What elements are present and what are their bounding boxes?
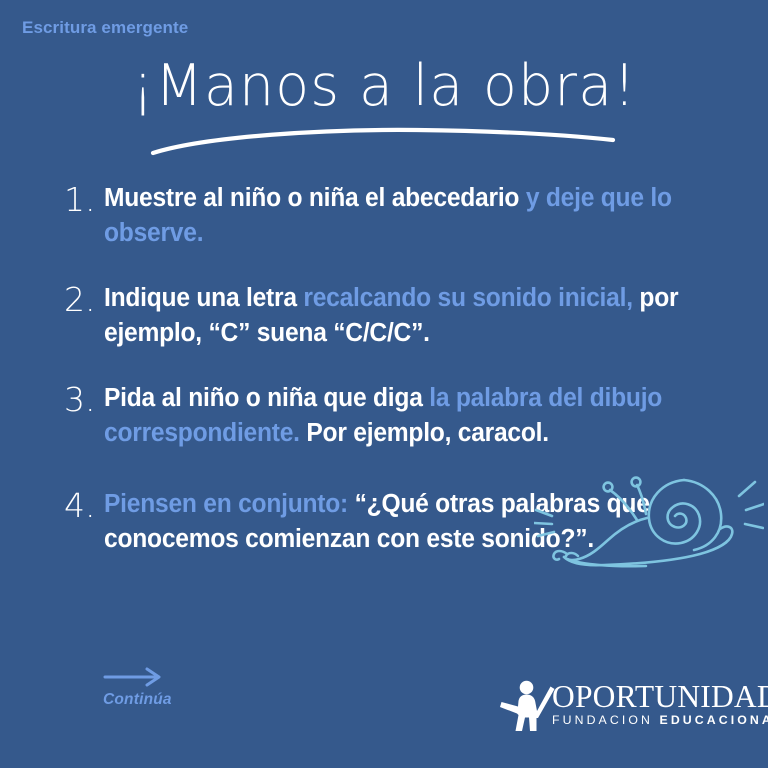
logo-subtitle-light: FUNDACION — [552, 713, 660, 727]
text-segment-white: Indique una letra — [104, 284, 303, 312]
text-segment-white: Muestre al niño o niña el abecedario — [104, 184, 526, 212]
list-item-number: 2. — [64, 281, 104, 317]
list-item: 3. Pida al niño o niña que diga la palab… — [64, 381, 724, 451]
logo-subtitle-bold: EDUCACIONAL — [660, 713, 768, 727]
list-item-text: Muestre al niño o niña el abecedario y d… — [104, 181, 702, 251]
list-item: 1. Muestre al niño o niña el abecedario … — [64, 181, 724, 251]
title-block: ¡Manos a la obra! — [0, 57, 768, 116]
list-item: 4. Piensen en conjunto: “¿Qué otras pala… — [64, 487, 724, 557]
title-underline-swoosh — [147, 127, 617, 157]
logo-title: OPORTUNIDAD — [552, 682, 768, 713]
continue-label: Continúa — [103, 691, 253, 709]
logo-subtitle: FUNDACION EDUCACIONAL — [552, 714, 768, 726]
list-item-text: Indique una letra recalcando su sonido i… — [104, 281, 702, 351]
list-item-text: Pida al niño o niña que diga la palabra … — [104, 381, 702, 451]
section-kicker: Escritura emergente — [22, 18, 188, 38]
logo-wordmark: OPORTUNIDAD FUNDACION EDUCACIONAL — [552, 679, 768, 726]
list-item-number: 3. — [64, 381, 104, 417]
person-arms-raised-icon — [498, 674, 556, 732]
list-item-text: Piensen en conjunto: “¿Qué otras palabra… — [104, 487, 702, 557]
text-segment-white: Por ejemplo, caracol. — [300, 419, 549, 447]
continue-indicator[interactable]: Continúa — [103, 665, 253, 709]
list-item-number: 4. — [64, 487, 104, 523]
list-item: 2. Indique una letra recalcando su sonid… — [64, 281, 724, 351]
list-item-number: 1. — [64, 181, 104, 217]
text-segment-accent: Piensen en conjunto: — [104, 490, 348, 518]
text-segment-white: Pida al niño o niña que diga — [104, 384, 429, 412]
slide-canvas: Escritura emergente ¡Manos a la obra! 1.… — [0, 0, 768, 768]
page-title: ¡Manos a la obra! — [132, 57, 637, 116]
arrow-right-icon — [103, 665, 169, 689]
brand-logo: OPORTUNIDAD FUNDACION EDUCACIONAL — [498, 672, 756, 734]
steps-list: 1. Muestre al niño o niña el abecedario … — [64, 181, 724, 557]
text-segment-accent: recalcando su sonido inicial, — [303, 284, 632, 312]
